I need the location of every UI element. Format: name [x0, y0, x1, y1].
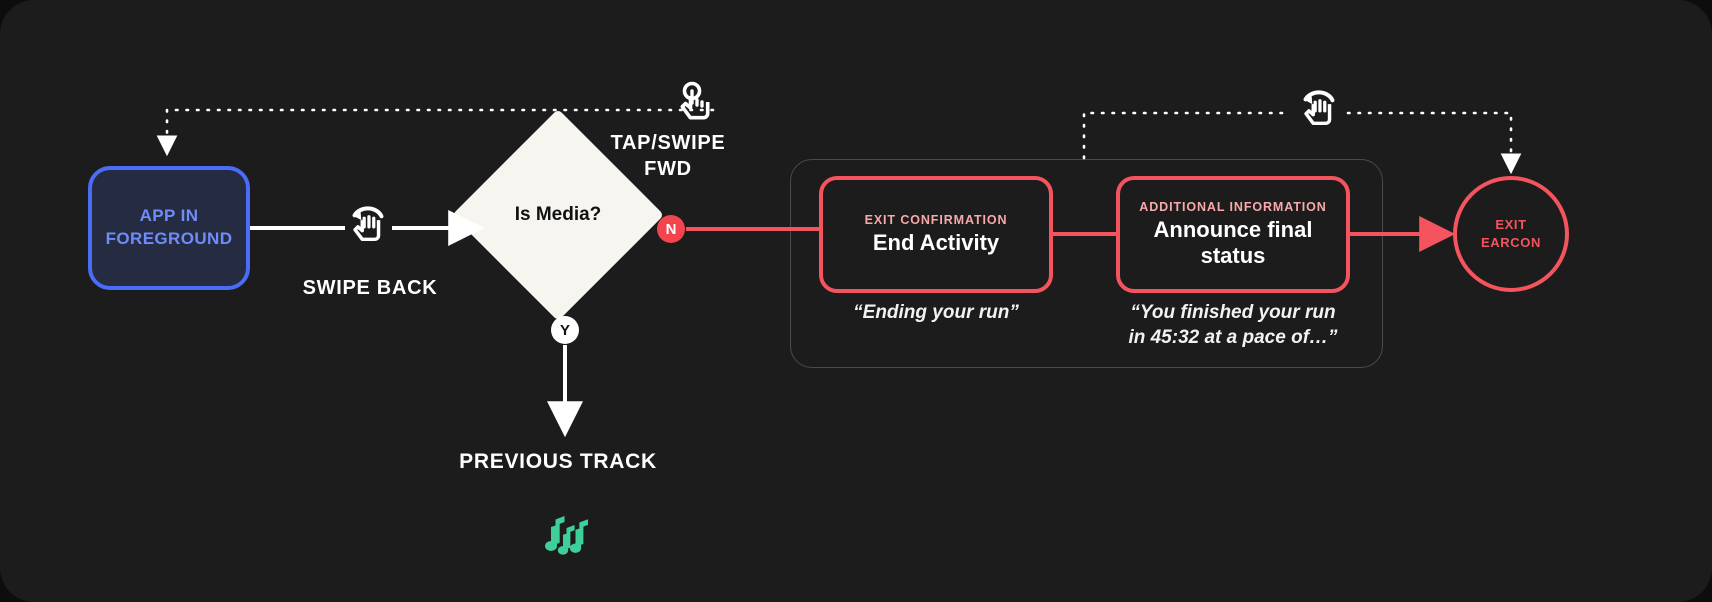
diagram-canvas: APP IN FOREGROUND SWIPE BACK Is Media? N…	[0, 0, 1712, 602]
card-additional-information[interactable]: ADDITIONAL INFORMATION Announce final st…	[1116, 176, 1350, 293]
tap-gesture-icon	[672, 80, 716, 133]
branch-badge-no[interactable]: N	[657, 215, 685, 243]
card-exit-eyebrow: EXIT CONFIRMATION	[865, 213, 1008, 227]
card-exit-confirmation[interactable]: EXIT CONFIRMATION End Activity	[819, 176, 1053, 293]
swipe-gesture-icon-return	[1296, 84, 1342, 135]
swipe-gesture-icon	[345, 200, 391, 251]
wire-swipe-to-earcon	[1348, 113, 1511, 170]
card-info-title-line2: status	[1201, 243, 1266, 268]
branch-badge-yes[interactable]: Y	[551, 316, 579, 344]
wire-panel-to-swipe	[1084, 113, 1289, 158]
card-info-title: Announce final status	[1154, 217, 1313, 269]
card-exit-title: End Activity	[873, 230, 999, 256]
connector-lines	[0, 0, 1712, 602]
card-info-eyebrow: ADDITIONAL INFORMATION	[1139, 200, 1326, 214]
card-info-title-line1: Announce final	[1154, 217, 1313, 242]
wire-return-to-app	[167, 110, 713, 152]
